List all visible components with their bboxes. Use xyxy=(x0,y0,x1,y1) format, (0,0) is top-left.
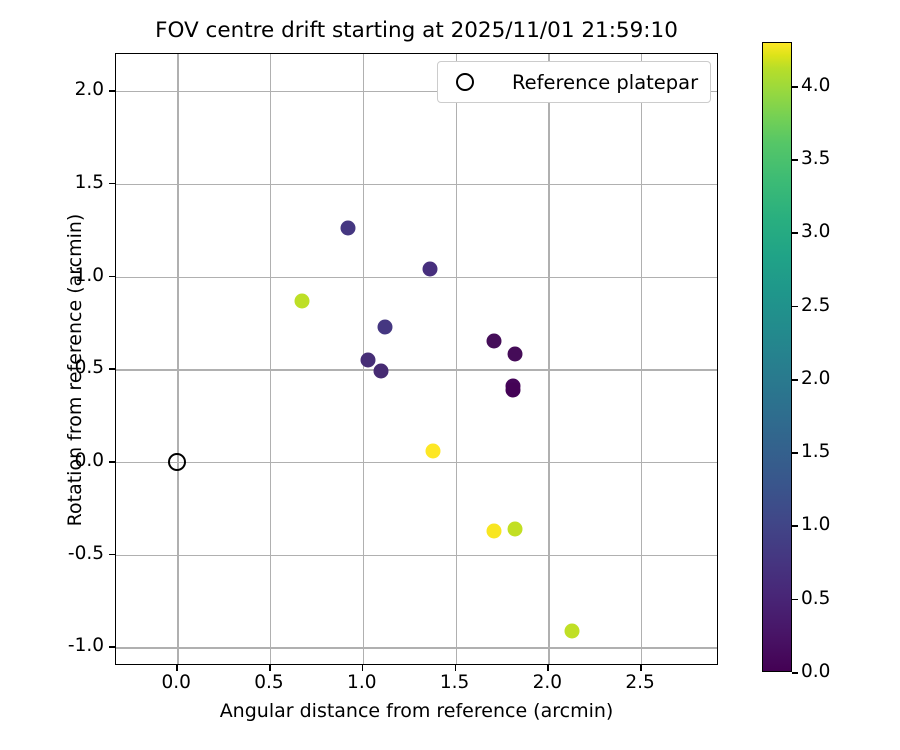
x-tick-label: 2.5 xyxy=(605,672,675,693)
x-tick-mark xyxy=(640,665,642,671)
gridline-vertical xyxy=(548,54,549,664)
y-tick-label: 2.0 xyxy=(20,79,104,100)
gridline-vertical xyxy=(270,54,271,664)
colorbar-tick-mark xyxy=(792,159,798,161)
scatter-point xyxy=(378,319,393,334)
scatter-point xyxy=(361,353,376,368)
colorbar-tick-mark xyxy=(792,672,798,674)
colorbar-tick-mark xyxy=(792,599,798,601)
scatter-point xyxy=(422,262,437,277)
scatter-point xyxy=(507,521,522,536)
colorbar-tick-label: 3.5 xyxy=(801,148,851,169)
scatter-point xyxy=(507,347,522,362)
scatter-point xyxy=(506,382,521,397)
gridline-horizontal xyxy=(116,184,717,185)
colorbar xyxy=(762,42,792,672)
reference-platepar-marker-icon xyxy=(456,73,474,91)
colorbar-tick-label: 0.0 xyxy=(801,661,851,682)
colorbar-tick-mark xyxy=(792,232,798,234)
colorbar-tick-label: 1.0 xyxy=(801,514,851,535)
x-tick-mark xyxy=(455,665,457,671)
colorbar-tick-mark xyxy=(792,525,798,527)
legend-item-label: Reference platepar xyxy=(512,71,698,94)
gridline-horizontal xyxy=(116,647,717,648)
legend: Reference platepar xyxy=(437,61,711,103)
y-tick-label: -0.5 xyxy=(20,543,104,564)
gridline-horizontal xyxy=(116,462,717,463)
y-tick-label: 0.0 xyxy=(20,450,104,471)
colorbar-tick-label: 2.0 xyxy=(801,368,851,389)
colorbar-tick-label: 1.5 xyxy=(801,441,851,462)
gridline-horizontal xyxy=(116,277,717,278)
x-tick-mark xyxy=(269,665,271,671)
page-title: FOV centre drift starting at 2025/11/01 … xyxy=(115,18,718,44)
y-tick-label: 0.5 xyxy=(20,357,104,378)
scatter-point xyxy=(565,623,580,638)
scatter-point xyxy=(426,443,441,458)
x-tick-label: 0.0 xyxy=(141,672,211,693)
gridline-horizontal xyxy=(116,369,717,370)
x-tick-mark xyxy=(176,665,178,671)
y-tick-label: 1.0 xyxy=(20,265,104,286)
scatter-point xyxy=(374,364,389,379)
gridline-horizontal xyxy=(116,555,717,556)
y-tick-mark xyxy=(109,368,115,370)
colorbar-tick-label: 4.0 xyxy=(801,75,851,96)
x-tick-mark xyxy=(547,665,549,671)
x-tick-label: 2.0 xyxy=(512,672,582,693)
colorbar-tick-mark xyxy=(792,306,798,308)
y-axis-label: Rotation from reference (arcmin) xyxy=(64,160,86,580)
y-tick-label: -1.0 xyxy=(20,635,104,656)
figure-canvas: FOV centre drift starting at 2025/11/01 … xyxy=(0,0,900,750)
colorbar-tick-mark xyxy=(792,86,798,88)
colorbar-tick-label: 3.0 xyxy=(801,221,851,242)
reference-platepar-point xyxy=(168,453,186,471)
y-tick-label: 1.5 xyxy=(20,172,104,193)
x-tick-label: 0.5 xyxy=(234,672,304,693)
colorbar-tick-label: 0.5 xyxy=(801,588,851,609)
x-tick-label: 1.5 xyxy=(420,672,490,693)
x-tick-mark xyxy=(362,665,364,671)
scatter-point xyxy=(487,334,502,349)
colorbar-tick-mark xyxy=(792,379,798,381)
gridline-vertical xyxy=(456,54,457,664)
y-tick-mark xyxy=(109,183,115,185)
scatter-point xyxy=(340,221,355,236)
scatter-point xyxy=(487,523,502,538)
x-tick-label: 1.0 xyxy=(327,672,397,693)
gridline-vertical xyxy=(177,54,178,664)
y-tick-mark xyxy=(109,461,115,463)
plot-area xyxy=(115,53,718,665)
colorbar-tick-label: 2.5 xyxy=(801,295,851,316)
colorbar-tick-mark xyxy=(792,452,798,454)
y-tick-mark xyxy=(109,276,115,278)
x-axis-label: Angular distance from reference (arcmin) xyxy=(115,700,718,722)
y-tick-mark xyxy=(109,90,115,92)
y-tick-mark xyxy=(109,554,115,556)
y-tick-mark xyxy=(109,646,115,648)
gridline-vertical xyxy=(641,54,642,664)
scatter-point xyxy=(294,293,309,308)
